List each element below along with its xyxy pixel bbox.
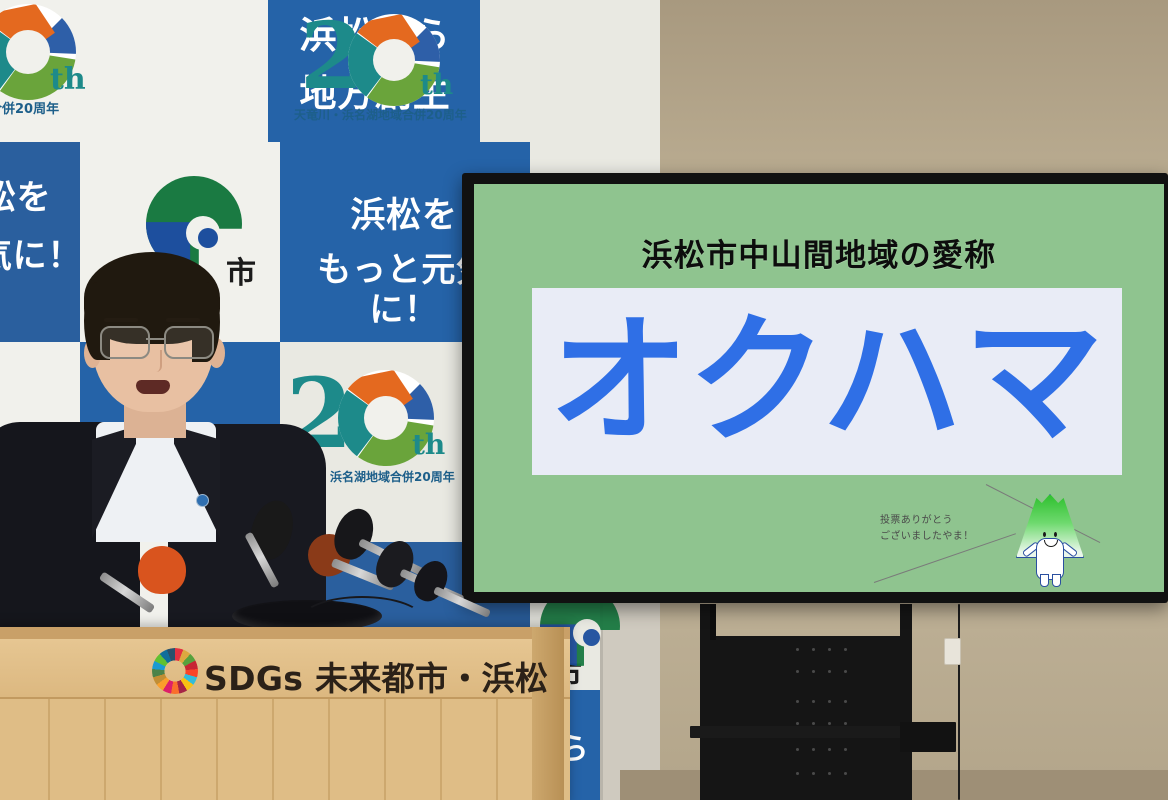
- eyeglass-bridge: [146, 338, 164, 340]
- power-cable: [958, 604, 960, 800]
- nose: [146, 350, 162, 372]
- anniversary-logo-20th: 2 th 天竜川・浜名湖地域合併20周年: [0, 0, 82, 118]
- av-cart-shelf-right: [900, 722, 956, 752]
- eyebrow: [104, 318, 138, 322]
- mouth: [136, 380, 170, 394]
- podium-top-edge: [0, 627, 570, 639]
- podium-sdgs-label: SDGs 未来都市・浜松: [204, 652, 548, 700]
- lapel-pin: [196, 494, 209, 507]
- slide-title: 浜松市中山間地域の愛称: [474, 230, 1164, 275]
- av-cart-panel: [712, 636, 902, 800]
- eyeglass-lens: [164, 326, 214, 359]
- anniversary-logo-20th: 2 th 天竜川・浜名湖地域合併20周年: [296, 6, 476, 126]
- wall-outlet: [944, 638, 961, 665]
- monitor-screen: 浜松市中山間地域の愛称 オクハマ 投票ありがとう ございましたやま！: [474, 184, 1164, 592]
- sdgs-color-wheel-icon: [152, 648, 198, 694]
- slide-headline: オクハマ: [532, 312, 1122, 452]
- banner-left-clipped-top: 松を: [0, 178, 92, 218]
- mountain-mascot-icon: [1010, 494, 1088, 586]
- eyeglass-lens: [100, 326, 150, 359]
- presentation-monitor: 浜松市中山間地域の愛称 オクハマ 投票ありがとう ございましたやま！: [462, 173, 1168, 603]
- av-cart-brace: [710, 604, 716, 640]
- press-conference-photo: 浜松から 地方創生 2 th 天竜川・浜名湖地域合併20周年 2: [0, 0, 1168, 800]
- eyebrow: [166, 318, 200, 322]
- podium-slats: [0, 699, 570, 800]
- slide-headline-card: オクハマ: [532, 288, 1122, 475]
- backdrop-panel: [480, 0, 660, 142]
- slide-note: 投票ありがとう ございましたやま！: [880, 513, 974, 544]
